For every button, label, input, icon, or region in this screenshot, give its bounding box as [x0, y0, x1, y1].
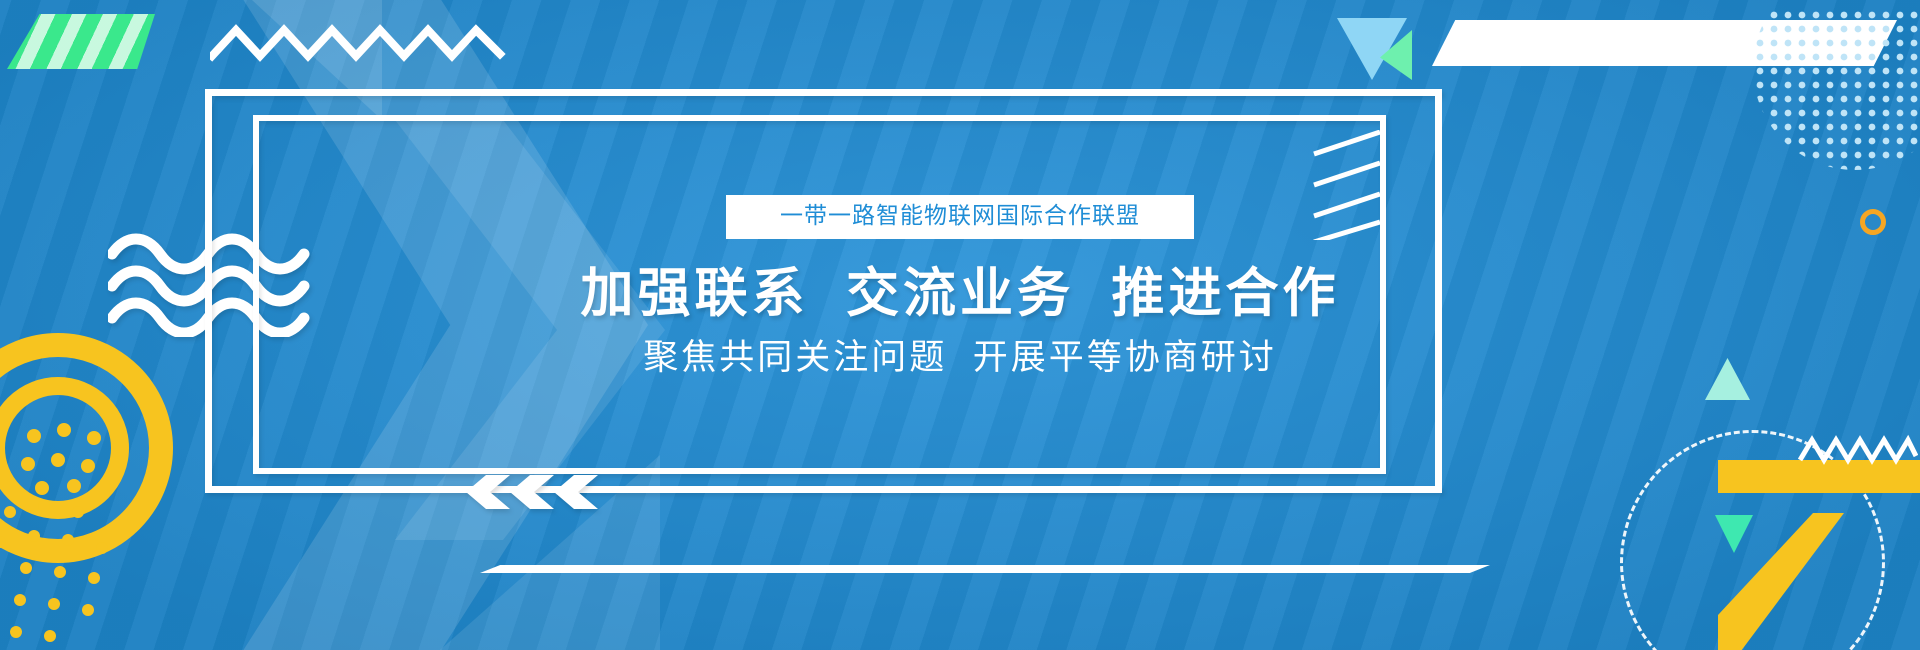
decorative-inner-frame: [253, 115, 1386, 474]
white-chevron-arrows-left-icon: [466, 475, 606, 509]
white-diagonal-slashes-icon: [1310, 130, 1390, 240]
white-bottom-rule: [480, 565, 1490, 573]
white-zigzag-line-icon: [210, 24, 510, 64]
orange-ring-icon: [1860, 209, 1886, 235]
green-striped-trapezoid-icon: [7, 14, 155, 69]
mint-triangle-up-icon: [1705, 358, 1750, 400]
light-blue-dotted-half-disc-icon: [1755, 10, 1920, 170]
white-zigzag-small-icon: [1798, 430, 1918, 472]
decorative-outer-frame-right-edge: [1435, 89, 1442, 493]
yellow-bent-band-icon: [1718, 455, 1920, 650]
yellow-dot-fan-icon: [0, 470, 155, 650]
hero-banner: 一带一路智能物联网国际合作联盟 加强联系 交流业务 推进合作 聚焦共同关注问题 …: [0, 0, 1920, 650]
